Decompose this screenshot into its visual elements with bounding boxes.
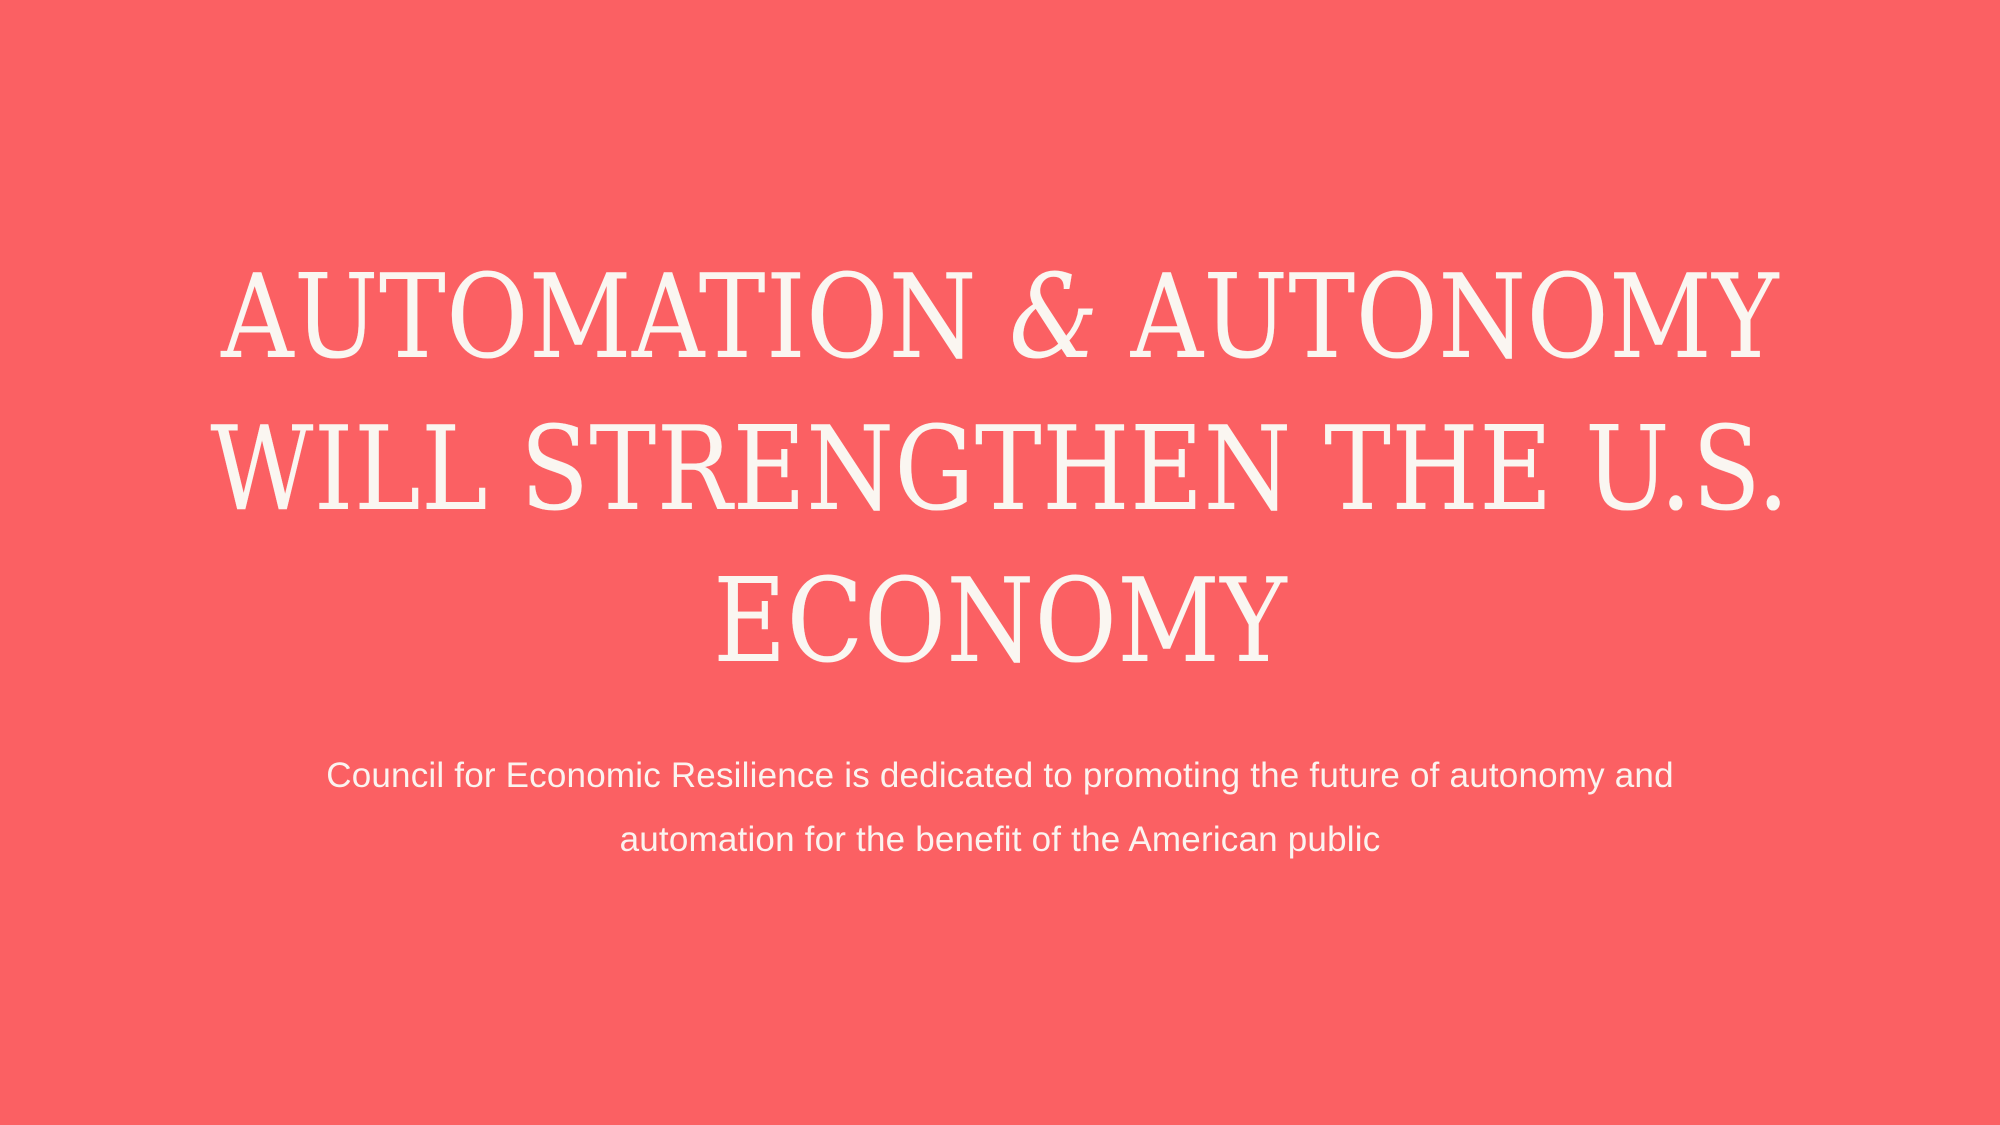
headline-line-3: ECONOMY (155, 546, 1845, 698)
slide-content-block: AUTOMATION & AUTONOMY WILL STRENGTHEN TH… (0, 242, 2000, 872)
subtitle-line-2: automation for the benefit of the Americ… (120, 808, 1880, 872)
page-title: AUTOMATION & AUTONOMY WILL STRENGTHEN TH… (155, 242, 1845, 698)
title-slide: AUTOMATION & AUTONOMY WILL STRENGTHEN TH… (0, 0, 2000, 1125)
headline-line-1-text-after-ampersand: AUTONOMY (1098, 250, 1778, 385)
subtitle-line-1: Council for Economic Resilience is dedic… (120, 744, 1880, 808)
headline-line-1: AUTOMATION & AUTONOMY (155, 242, 1845, 394)
page-subtitle: Council for Economic Resilience is dedic… (120, 744, 1880, 872)
headline-line-2: WILL STRENGTHEN THE U.S. (155, 394, 1845, 546)
ampersand-glyph: & (1009, 250, 1098, 385)
headline-line-1-text-before-ampersand: AUTOMATION (221, 250, 1009, 385)
